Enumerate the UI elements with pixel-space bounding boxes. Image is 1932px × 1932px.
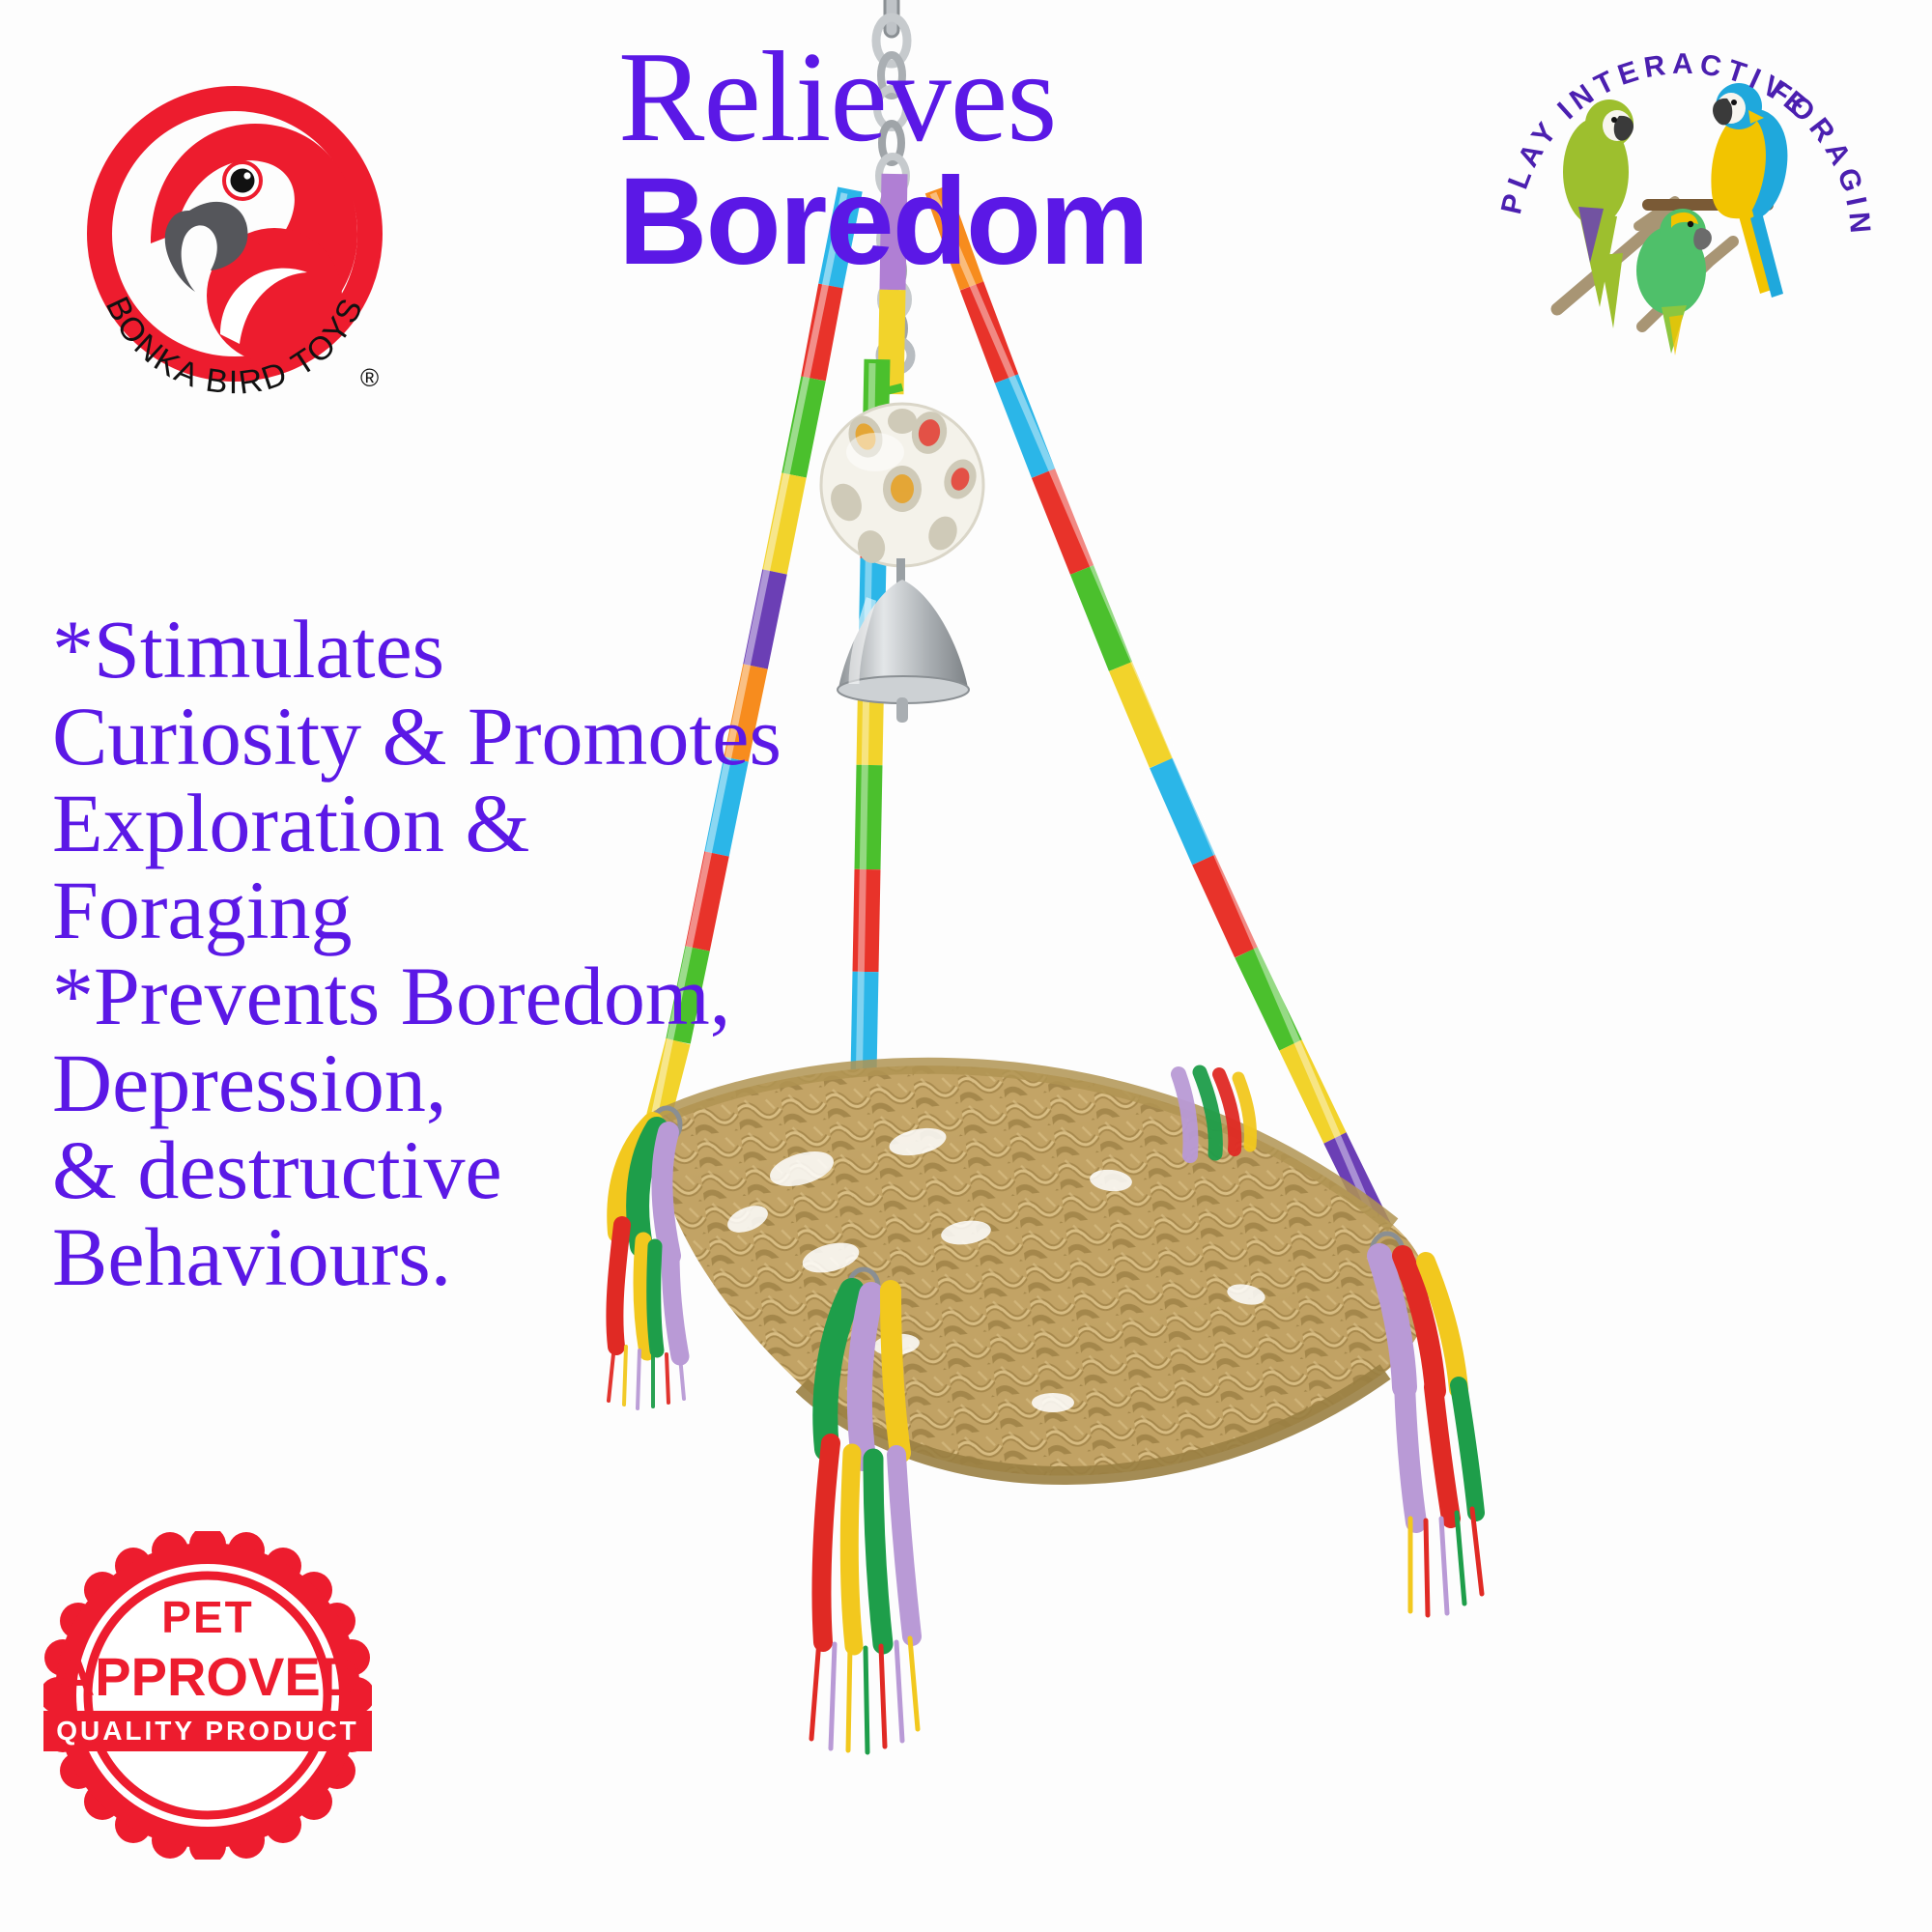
pet-badge-ribbon-text: QUALITY PRODUCT [56, 1716, 359, 1746]
bonka-bird-toys-logo: BONKA BIRD TOYS ® [75, 68, 394, 425]
rainbow-yarn-tassel-front [811, 1291, 918, 1752]
bullet-line-3: Foraging [52, 867, 922, 954]
rainbow-yarn-tassel-back [1179, 1072, 1251, 1155]
bullet-line-1: Curiosity & Promotes [52, 694, 922, 781]
bullet-line-2: Exploration & [52, 781, 922, 867]
headline-line-2: Boredom [618, 164, 1352, 280]
pet-badge-line-2: APPROVED [56, 1646, 359, 1707]
poster-canvas: BONKA BIRD TOYS ® Relieves Boredom [0, 0, 1932, 1932]
registered-mark: ® [360, 363, 379, 392]
headline-line-1: Relieves [618, 37, 1352, 158]
bullet-line-4: *Prevents Boredom, [52, 953, 922, 1040]
bullet-line-0: *Stimulates [52, 607, 922, 694]
bullet-line-7: Behaviours. [52, 1214, 922, 1301]
pet-approved-quality-product-seal: PET APPROVED QUALITY PRODUCT [43, 1531, 372, 1860]
pet-badge-line-1: PET [161, 1592, 253, 1642]
headline: Relieves Boredom [618, 37, 1352, 280]
rainbow-yarn-tassel-right [1379, 1256, 1482, 1615]
bullet-line-5: Depression, [52, 1040, 922, 1127]
benefit-bullets: *Stimulates Curiosity & Promotes Explora… [52, 607, 922, 1301]
bullet-line-6: & destructive [52, 1127, 922, 1214]
